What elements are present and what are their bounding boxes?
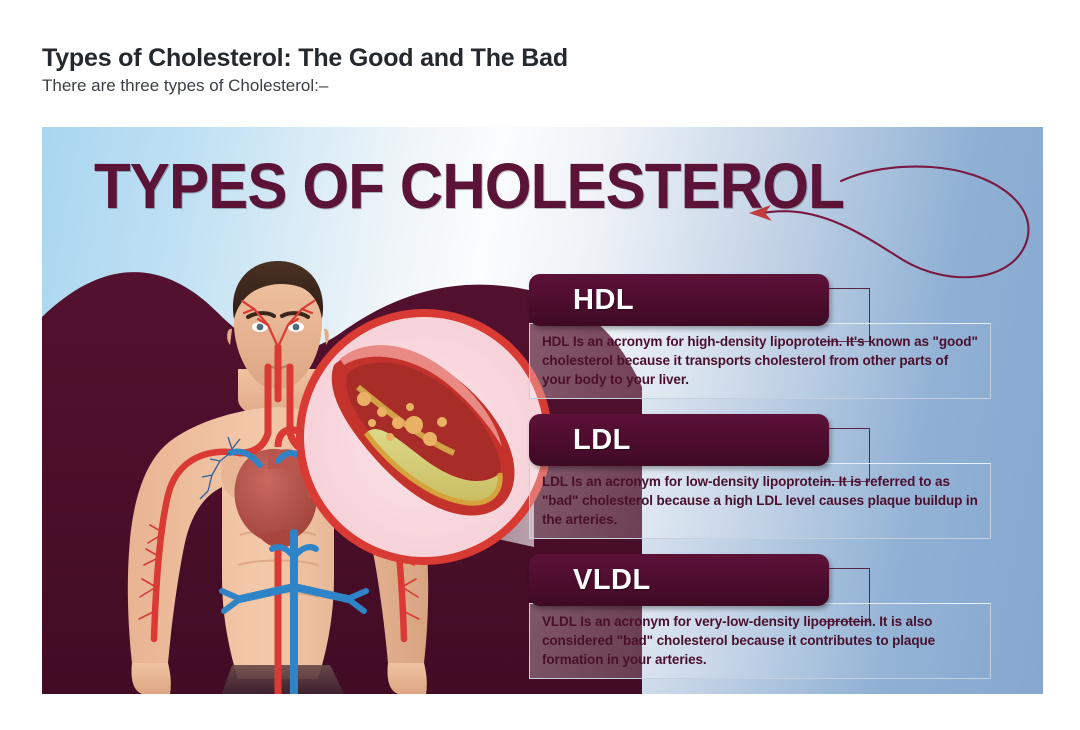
- card-hdl-pill[interactable]: HDL: [529, 274, 829, 326]
- card-ldl-description: LDL Is an acronym for low-density lipopr…: [529, 463, 991, 539]
- card-vldl-pill[interactable]: VLDL: [529, 554, 829, 606]
- page-root: Types of Cholesterol: The Good and The B…: [0, 0, 1080, 730]
- card-hdl-description: HDL Is an acronym for high-density lipop…: [529, 323, 991, 399]
- card-ldl-pill[interactable]: LDL: [529, 414, 829, 466]
- card-vldl-description-text: VLDL Is an acronym for very-low-density …: [542, 612, 980, 669]
- page-title: Types of Cholesterol: The Good and The B…: [42, 44, 568, 73]
- card-vldl-description: VLDL Is an acronym for very-low-density …: [529, 603, 991, 679]
- artery-magnifier-circle: [296, 309, 552, 565]
- card-vldl: VLDL VLDL Is an acronym for very-low-den…: [529, 554, 1029, 679]
- card-ldl-description-text: LDL Is an acronym for low-density lipopr…: [542, 472, 980, 529]
- card-hdl-label: HDL: [573, 284, 634, 317]
- human-anatomy-illustration: [72, 247, 552, 694]
- cholesterol-type-cards: HDL HDL Is an acronym for high-density l…: [529, 274, 1029, 694]
- page-subtitle: There are three types of Cholesterol:–: [42, 76, 328, 96]
- card-ldl: LDL LDL Is an acronym for low-density li…: [529, 414, 1029, 539]
- card-hdl-description-text: HDL Is an acronym for high-density lipop…: [542, 332, 980, 389]
- card-ldl-label: LDL: [573, 424, 631, 457]
- infographic-headline: TYPES OF CHOLESTEROL: [94, 149, 844, 223]
- card-hdl: HDL HDL Is an acronym for high-density l…: [529, 274, 1029, 399]
- card-vldl-label: VLDL: [573, 564, 651, 597]
- infographic-image: TYPES OF CHOLESTEROL: [42, 127, 1043, 694]
